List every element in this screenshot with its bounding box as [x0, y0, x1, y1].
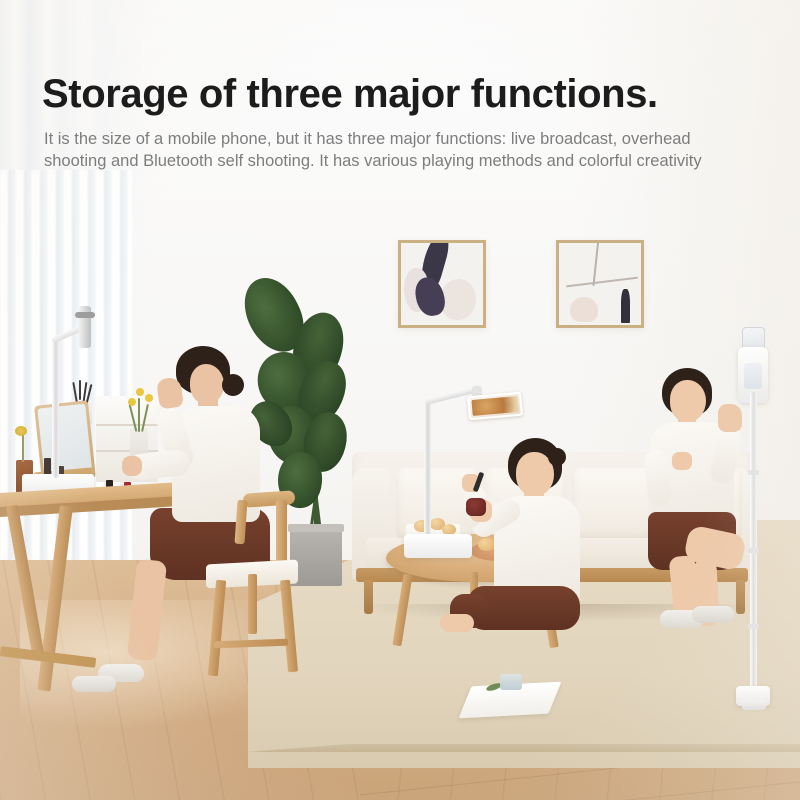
slipper — [692, 606, 734, 623]
text-overlay: Storage of three major functions. It is … — [0, 0, 800, 210]
framed-art-left — [398, 240, 486, 328]
hand — [122, 456, 142, 476]
held-pastry — [466, 498, 486, 516]
slipper — [72, 676, 116, 692]
phone-overhead — [467, 392, 523, 421]
framed-art-right — [556, 240, 644, 328]
telescoping-pole — [750, 392, 757, 692]
phone-clamp — [79, 306, 91, 348]
left-hand — [672, 452, 692, 470]
hair-bun — [548, 448, 566, 466]
abstract-artwork-left — [401, 243, 483, 325]
dried-flower — [15, 426, 27, 436]
page-description: It is the size of a mobile phone, but it… — [44, 128, 744, 172]
hair-bun — [222, 374, 244, 396]
waving-hand — [718, 404, 742, 432]
abstract-artwork-right — [559, 243, 641, 325]
overhead-pole — [424, 400, 431, 538]
glass-ornament — [500, 674, 522, 690]
foot — [440, 614, 474, 632]
page-title: Storage of three major functions. — [42, 72, 658, 117]
sofa-cushion — [572, 468, 654, 540]
banner-stage: Storage of three major functions. It is … — [0, 0, 800, 800]
overhead-base — [404, 534, 472, 558]
desk-stand-pole — [52, 340, 59, 478]
